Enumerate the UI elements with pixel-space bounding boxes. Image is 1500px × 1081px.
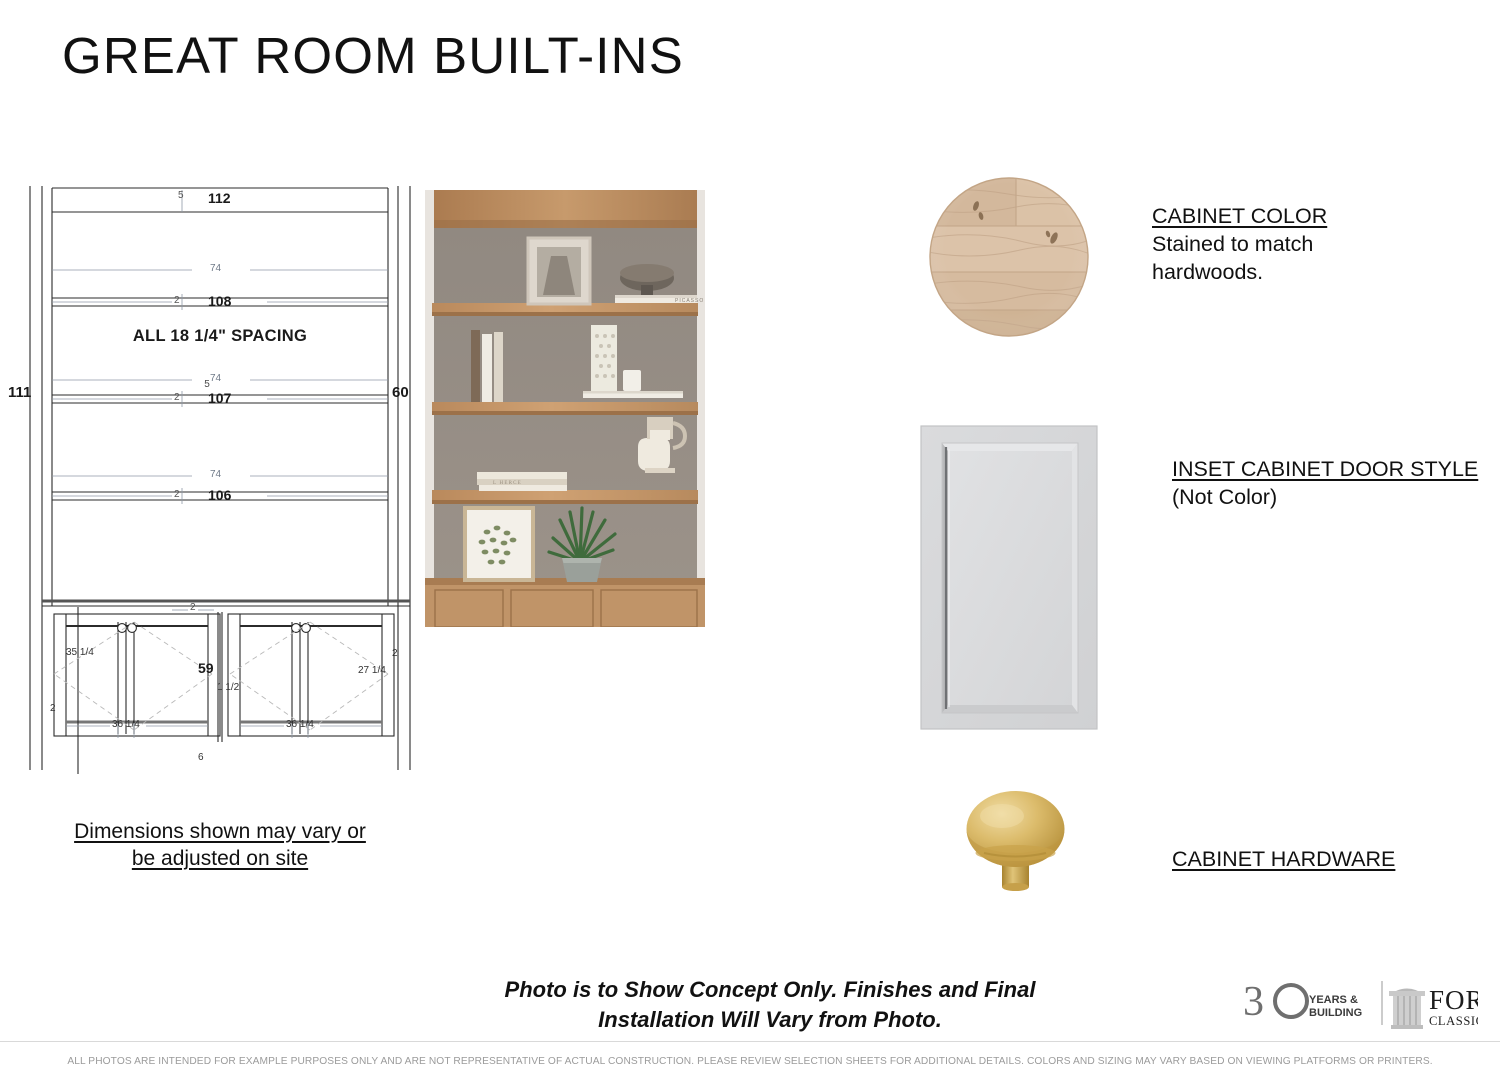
dim-shelf1-width: 74 [210,263,221,274]
drawing-caption-line1: Dimensions shown may vary or [74,820,366,843]
dim-base-right-edge: 2 [392,648,398,659]
concept-photo: PICASSO [425,190,705,627]
selection-label-hardware: CABINET HARDWARE [1172,845,1500,873]
door-style-sub-1: (Not Color) [1172,483,1500,511]
svg-text:FORD: FORD [1429,985,1478,1015]
dim-base-door-right-width: 36 1/4 [286,719,314,730]
footer-divider [0,1041,1500,1042]
wood-circle-swatch [928,176,1090,338]
drawing-caption-line2: be adjusted on site [132,847,308,870]
dim-base-right-height: 27 1/4 [358,665,386,676]
dim-base-door-left-width: 36 1/4 [112,719,140,730]
page-title: GREAT ROOM BUILT-INS [62,26,684,85]
hardware-heading: CABINET HARDWARE [1172,845,1500,873]
dim-base-center-major: 59 [198,660,214,676]
footer-disclaimer-line1: Photo is to Show Concept Only. Finishes … [505,977,1036,1002]
svg-text:L HERCE: L HERCE [493,481,522,486]
footer-disclaimer: Photo is to Show Concept Only. Finishes … [390,975,1150,1035]
dim-base-bottom: 6 [198,752,204,763]
svg-text:PICASSO: PICASSO [675,298,704,304]
svg-text:BUILDING: BUILDING [1309,1007,1362,1019]
drawing-center-note: ALL 18 1/4" SPACING [22,327,418,346]
shaker-door-swatch [920,425,1098,730]
dim-shelf2-thk: 2 [174,392,180,403]
thirty-years-badge: 3 YEARS & BUILDING [1243,979,1362,1025]
brand-logo: 3 YEARS & BUILDING FORD CLASSIC HOMES [1243,975,1478,1037]
selection-label-cabinet-color: CABINET COLOR Stained to match hardwoods… [1152,202,1482,286]
dim-edge-right: 60 [392,384,409,401]
dim-shelf3-thk: 2 [174,489,180,500]
svg-text:3: 3 [1243,979,1264,1025]
selection-label-door-style: INSET CABINET DOOR STYLE (Not Color) [1172,455,1500,511]
dim-shelf3-major: 106 [208,487,231,503]
dim-shelf2-major: 107 [208,390,231,406]
dim-base-center-gap: 1 1/2 [217,682,239,693]
cabinet-color-heading: CABINET COLOR [1152,202,1482,230]
dim-top-major: 112 [208,190,231,206]
elevation-drawing: 5 5 112 74 2 108 74 2 107 74 2 106 ALL 1… [22,182,418,774]
dim-shelf1-thk: 2 [174,295,180,306]
dim-shelf2-width: 74 [210,373,221,384]
dim-base-top-thk: 2 [190,602,196,613]
cabinet-color-sub-1: Stained to match [1152,230,1482,258]
svg-text:CLASSIC HOMES: CLASSIC HOMES [1429,1014,1478,1028]
dim-top-small: 5 [178,190,184,201]
cabinet-color-sub-2: hardwoods. [1152,258,1482,286]
footer-disclaimer-line2: Installation Will Vary from Photo. [598,1007,942,1032]
column-icon [1389,989,1425,1030]
dim-base-left-edge: 2 [50,703,56,714]
selection-sheet-page: GREAT ROOM BUILT-INS [0,0,1500,1081]
dim-base-left-height: 35 1/4 [66,647,94,658]
svg-text:YEARS &: YEARS & [1309,994,1358,1006]
dim-edge-left: 111 [8,384,31,401]
drawing-caption: Dimensions shown may vary or be adjusted… [20,818,420,872]
dim-shelf1-major: 108 [208,293,231,309]
footer-fineprint: ALL PHOTOS ARE INTENDED FOR EXAMPLE PURP… [0,1056,1500,1067]
door-style-heading: INSET CABINET DOOR STYLE [1172,455,1500,483]
brass-knob-swatch [958,783,1073,895]
dim-shelf3-width: 74 [210,469,221,480]
